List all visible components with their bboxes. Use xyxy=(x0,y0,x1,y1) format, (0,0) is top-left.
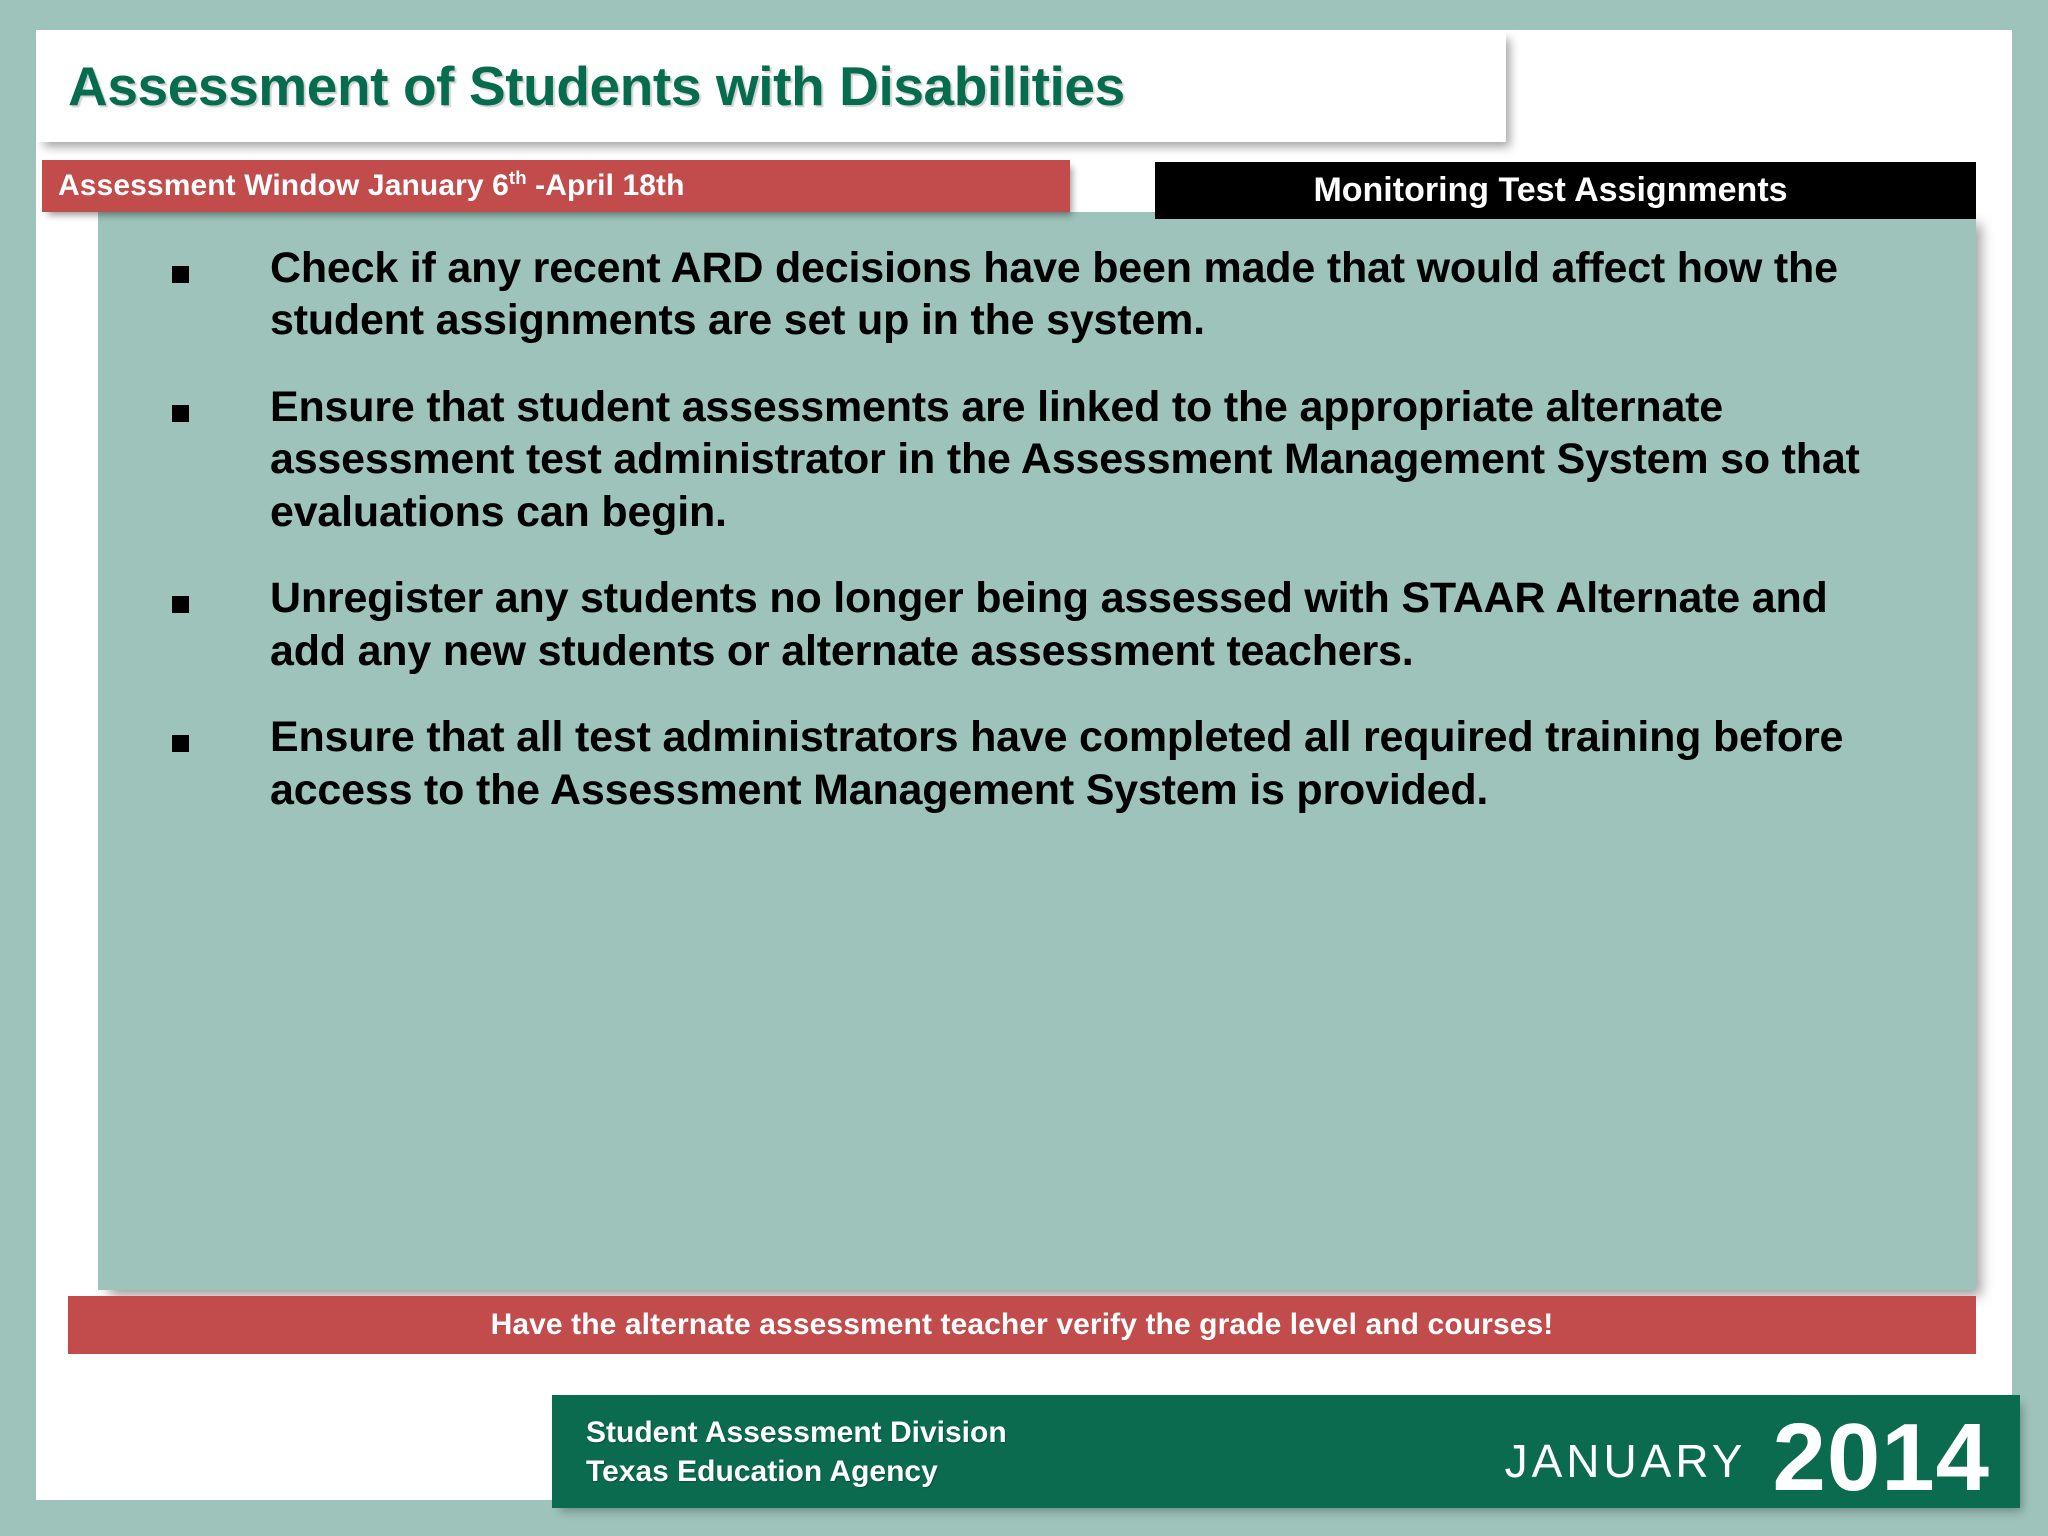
list-item-text: Unregister any students no longer being … xyxy=(270,574,1828,674)
topic-banner-label: Monitoring Test Assignments xyxy=(1313,171,1817,210)
footer-agency-label: Texas Education Agency xyxy=(586,1452,1007,1491)
square-bullet-icon xyxy=(172,266,189,283)
assessment-window-prefix: Assessment Window January 6 xyxy=(58,169,509,202)
square-bullet-icon xyxy=(172,735,189,752)
bullet-list: Check if any recent ARD decisions have b… xyxy=(98,242,1976,816)
list-item: Unregister any students no longer being … xyxy=(134,572,1886,677)
footer-month-label: JANUARY xyxy=(1505,1434,1747,1488)
list-item-text: Ensure that all test administrators have… xyxy=(270,713,1843,813)
list-item: Ensure that all test administrators have… xyxy=(134,711,1886,816)
list-item-text: Check if any recent ARD decisions have b… xyxy=(270,244,1838,344)
assessment-window-banner: Assessment Window January 6th -April 18t… xyxy=(42,160,1070,212)
callout-text: Have the alternate assessment teacher ve… xyxy=(491,1308,1554,1342)
callout-banner: Have the alternate assessment teacher ve… xyxy=(68,1296,1976,1354)
content-panel: Check if any recent ARD decisions have b… xyxy=(98,212,1976,1290)
footer-agency-block: Student Assessment Division Texas Educat… xyxy=(586,1413,1007,1491)
assessment-window-label: Assessment Window January 6th -April 18t… xyxy=(58,169,685,203)
slide-footer: Student Assessment Division Texas Educat… xyxy=(552,1395,2020,1508)
list-item: Check if any recent ARD decisions have b… xyxy=(134,242,1886,347)
slide-title-plate: Assessment of Students with Disabilities xyxy=(36,30,1506,142)
square-bullet-icon xyxy=(172,596,189,613)
assessment-window-ordinal-suffix: th xyxy=(509,167,527,188)
footer-date-block: JANUARY 2014 xyxy=(1505,1414,1990,1502)
page-title: Assessment of Students with Disabilities xyxy=(68,54,1125,118)
topic-banner: Monitoring Test Assignments xyxy=(1155,162,1976,219)
slide-canvas: Assessment of Students with Disabilities… xyxy=(0,0,2048,1536)
list-item-text: Ensure that student assessments are link… xyxy=(270,383,1860,536)
footer-division-label: Student Assessment Division xyxy=(586,1413,1007,1452)
square-bullet-icon xyxy=(172,405,189,422)
assessment-window-suffix: -April 18th xyxy=(527,169,685,202)
footer-year-label: 2014 xyxy=(1772,1414,1990,1502)
list-item: Ensure that student assessments are link… xyxy=(134,381,1886,538)
